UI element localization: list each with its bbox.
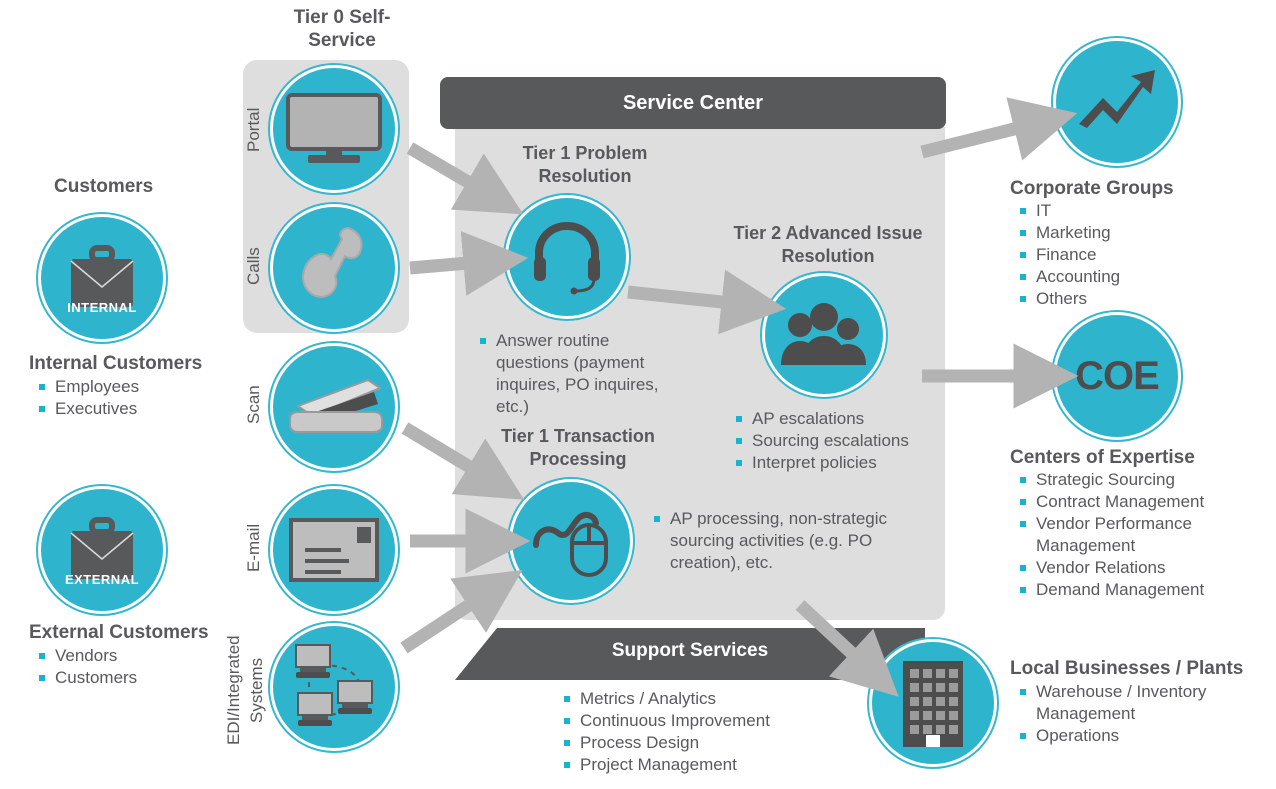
- coe-text-icon: COE: [1075, 354, 1159, 399]
- corporate-groups-circle[interactable]: [1056, 41, 1178, 163]
- external-customer-circle: [41, 489, 163, 611]
- external-customers-list: Vendors Customers: [33, 645, 243, 689]
- list-item: Employees: [33, 376, 243, 398]
- list-item: Answer routine questions (payment inquir…: [474, 330, 674, 418]
- internal-badge: INTERNAL: [41, 300, 163, 315]
- list-item: Warehouse / Inventory Management: [1014, 681, 1264, 725]
- coe-heading: Centers of Expertise: [1010, 447, 1195, 469]
- channel-label-edi: EDI/Integrated Systems: [222, 620, 266, 760]
- coe-list: Strategic Sourcing Contract Management V…: [1014, 469, 1264, 601]
- list-item: Executives: [33, 398, 243, 420]
- list-item: Vendor Relations: [1014, 557, 1264, 579]
- list-item: Sourcing escalations: [730, 430, 960, 452]
- list-item: Customers: [33, 667, 243, 689]
- network-icon: [282, 637, 386, 737]
- list-item: IT: [1014, 200, 1264, 222]
- tier2-title: Tier 2 Advanced Issue Resolution: [728, 222, 928, 268]
- list-item: Strategic Sourcing: [1014, 469, 1264, 491]
- envelope-icon: [287, 515, 381, 585]
- service-center-header: Service Center: [440, 77, 946, 129]
- corporate-groups-heading: Corporate Groups: [1010, 178, 1174, 200]
- list-item: AP escalations: [730, 408, 960, 430]
- channel-email-circle[interactable]: [273, 489, 395, 611]
- list-item: Finance: [1014, 244, 1264, 266]
- headset-icon: [527, 217, 607, 297]
- external-customers-heading: External Customers: [29, 622, 209, 644]
- list-item: Accounting: [1014, 266, 1264, 288]
- tier1-transaction-list: AP processing, non-strategic sourcing ac…: [648, 508, 918, 574]
- internal-customers-list: Employees Executives: [33, 376, 243, 420]
- channel-portal-circle[interactable]: [273, 68, 395, 190]
- phone-icon: [288, 222, 380, 314]
- channel-calls-circle[interactable]: [273, 207, 395, 329]
- list-item: Demand Management: [1014, 579, 1264, 601]
- support-services-header: Support Services: [455, 640, 925, 662]
- channel-label-calls: Calls: [244, 236, 266, 296]
- corporate-groups-list: IT Marketing Finance Accounting Others: [1014, 200, 1264, 310]
- list-item: Continuous Improvement: [558, 710, 888, 732]
- coe-circle[interactable]: COE: [1056, 315, 1178, 437]
- channel-edi-circle[interactable]: [273, 626, 395, 748]
- list-item: Others: [1014, 288, 1264, 310]
- monitor-icon: [282, 89, 386, 169]
- people-icon: [778, 299, 870, 371]
- internal-customer-circle: [41, 217, 163, 339]
- mouse-icon: [528, 501, 614, 581]
- channel-scan-circle[interactable]: [273, 346, 395, 468]
- list-item: Operations: [1014, 725, 1264, 747]
- scanner-icon: [282, 372, 386, 442]
- tier2-list: AP escalations Sourcing escalations Inte…: [730, 408, 960, 474]
- support-services-list: Metrics / Analytics Continuous Improveme…: [558, 688, 888, 776]
- list-item: Process Design: [558, 732, 888, 754]
- tier1-problem-circle[interactable]: [508, 198, 626, 316]
- tier2-circle[interactable]: [765, 276, 883, 394]
- local-businesses-list: Warehouse / Inventory Management Operati…: [1014, 681, 1264, 747]
- list-item: Interpret policies: [730, 452, 960, 474]
- local-businesses-heading: Local Businesses / Plants: [1010, 658, 1243, 680]
- list-item: Marketing: [1014, 222, 1264, 244]
- building-icon: [898, 657, 968, 749]
- tier1-transaction-circle[interactable]: [512, 482, 630, 600]
- local-businesses-circle[interactable]: [872, 642, 994, 764]
- tier0-title: Tier 0 Self-Service: [262, 6, 422, 52]
- tier1-problem-title: Tier 1 Problem Resolution: [490, 142, 680, 188]
- growth-arrow-icon: [1073, 62, 1161, 142]
- channel-label-scan: Scan: [244, 375, 266, 435]
- internal-customers-heading: Internal Customers: [29, 353, 202, 375]
- list-item: Vendors: [33, 645, 243, 667]
- list-item: Metrics / Analytics: [558, 688, 888, 710]
- channel-label-portal: Portal: [244, 95, 266, 165]
- list-item: AP processing, non-strategic sourcing ac…: [648, 508, 918, 574]
- tier1-problem-list: Answer routine questions (payment inquir…: [474, 330, 674, 418]
- customers-title: Customers: [54, 176, 153, 198]
- external-badge: EXTERNAL: [41, 572, 163, 587]
- list-item: Contract Management: [1014, 491, 1264, 513]
- channel-label-email: E-mail: [244, 512, 266, 584]
- diagram-canvas: Customers INTERNAL Internal Customers Em…: [0, 0, 1276, 789]
- list-item: Project Management: [558, 754, 888, 776]
- list-item: Vendor Performance Management: [1014, 513, 1264, 557]
- tier1-transaction-title: Tier 1 Transaction Processing: [478, 425, 678, 471]
